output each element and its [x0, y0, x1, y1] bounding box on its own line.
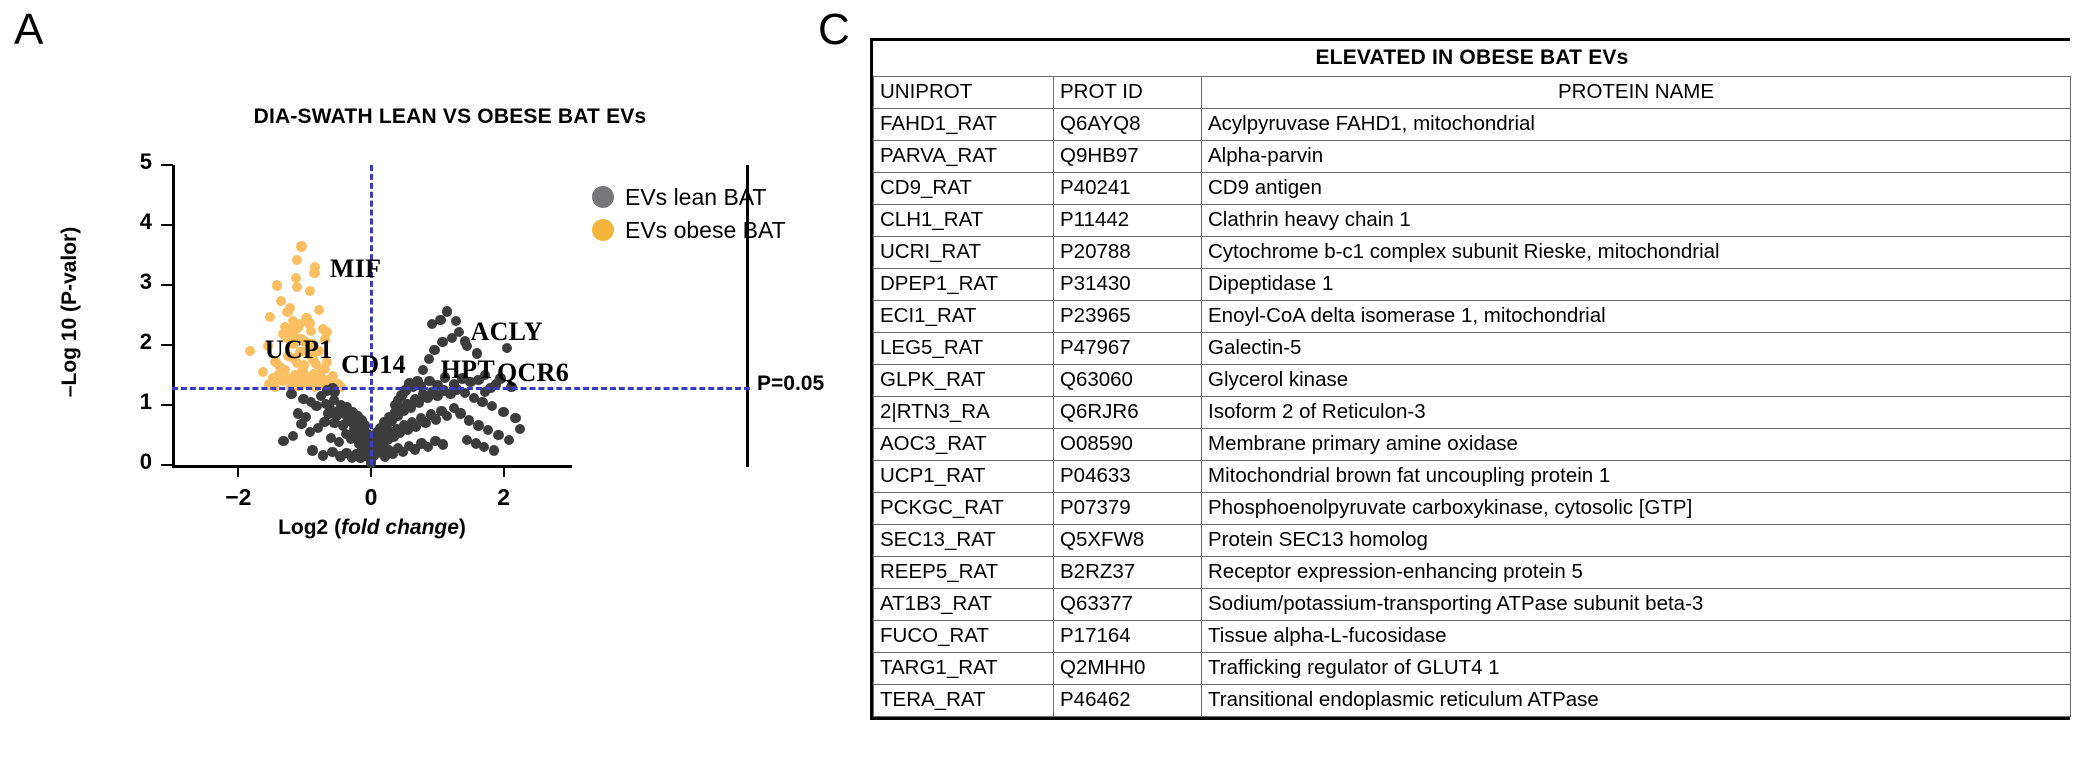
cell-protein-name: CD9 antigen — [1202, 173, 2071, 205]
table-title-row: ELEVATED IN OBESE BAT EVs — [874, 41, 2071, 77]
vertical-threshold-line — [370, 165, 373, 465]
legend-swatch — [592, 219, 614, 241]
scatter-point — [314, 305, 324, 315]
cell-uniprot: ECI1_RAT — [874, 301, 1054, 333]
gene-label-acly: ACLY — [471, 317, 543, 347]
table-row: ECI1_RATP23965Enoyl-CoA delta isomerase … — [874, 301, 2071, 333]
scatter-point — [487, 401, 497, 411]
cell-protein-name: Alpha-parvin — [1202, 141, 2071, 173]
table-row: AT1B3_RATQ63377Sodium/potassium-transpor… — [874, 589, 2071, 621]
scatter-point — [429, 345, 439, 355]
cell-uniprot: TARG1_RAT — [874, 653, 1054, 685]
scatter-point — [305, 286, 315, 296]
cell-prot-id: Q6RJR6 — [1054, 397, 1202, 429]
scatter-point — [447, 333, 457, 343]
cell-protein-name: Galectin-5 — [1202, 333, 2071, 365]
cell-uniprot: LEG5_RAT — [874, 333, 1054, 365]
table-body: ELEVATED IN OBESE BAT EVsUNIPROTPROT IDP… — [874, 41, 2071, 717]
cell-uniprot: UCRI_RAT — [874, 237, 1054, 269]
cell-protein-name: Glycerol kinase — [1202, 365, 2071, 397]
cell-protein-name: Isoform 2 of Reticulon-3 — [1202, 397, 2071, 429]
cell-prot-id: P11442 — [1054, 205, 1202, 237]
x-axis-label-suffix: ) — [459, 516, 466, 539]
scatter-point — [278, 436, 288, 446]
column-header-uniprot: UNIPROT — [874, 77, 1054, 109]
scatter-point — [309, 268, 319, 278]
cell-protein-name: Mitochondrial brown fat uncoupling prote… — [1202, 461, 2071, 493]
cell-uniprot: 2|RTN3_RA — [874, 397, 1054, 429]
cell-prot-id: P20788 — [1054, 237, 1202, 269]
cell-uniprot: PARVA_RAT — [874, 141, 1054, 173]
cell-protein-name: Enoyl-CoA delta isomerase 1, mitochondri… — [1202, 301, 2071, 333]
table-row: AOC3_RATO08590Membrane primary amine oxi… — [874, 429, 2071, 461]
cell-protein-name: Receptor expression-enhancing protein 5 — [1202, 557, 2071, 589]
cell-protein-name: Sodium/potassium-transporting ATPase sub… — [1202, 589, 2071, 621]
table-row: PARVA_RATQ9HB97Alpha-parvin — [874, 141, 2071, 173]
scatter-point — [483, 425, 493, 435]
scatter-point — [424, 354, 434, 364]
scatter-point — [272, 280, 282, 290]
table-title: ELEVATED IN OBESE BAT EVs — [874, 41, 2071, 77]
scatter-point — [498, 407, 508, 417]
gene-label-ucp1: UCP1 — [265, 335, 333, 365]
y-tick-label: 3 — [112, 269, 152, 295]
cell-prot-id: B2RZ37 — [1054, 557, 1202, 589]
chart-legend: EVs lean BATEVs obese BAT — [592, 182, 786, 248]
cell-uniprot: REEP5_RAT — [874, 557, 1054, 589]
significance-threshold-line — [172, 387, 750, 390]
cell-protein-name: Transitional endoplasmic reticulum ATPas… — [1202, 685, 2071, 717]
x-axis-label-italic: fold change — [341, 516, 459, 539]
scatter-point — [510, 413, 520, 423]
cell-prot-id: Q6AYQ8 — [1054, 109, 1202, 141]
table-row: UCP1_RATP04633Mitochondrial brown fat un… — [874, 461, 2071, 493]
cell-protein-name: Cytochrome b-c1 complex subunit Rieske, … — [1202, 237, 2071, 269]
scatter-point — [451, 316, 461, 326]
scatter-point — [327, 447, 337, 457]
x-axis-label-prefix: Log2 ( — [278, 516, 341, 539]
table-row: GLPK_RATQ63060Glycerol kinase — [874, 365, 2071, 397]
cell-prot-id: P04633 — [1054, 461, 1202, 493]
scatter-point — [245, 346, 255, 356]
gene-label-qcr6: QCR6 — [497, 358, 569, 388]
cell-uniprot: GLPK_RAT — [874, 365, 1054, 397]
cell-protein-name: Membrane primary amine oxidase — [1202, 429, 2071, 461]
table-row: FAHD1_RATQ6AYQ8Acylpyruvase FAHD1, mitoc… — [874, 109, 2071, 141]
chart-title: DIA-SWATH LEAN VS OBESE BAT EVs — [170, 105, 730, 129]
y-tick-label: 5 — [112, 149, 152, 175]
legend-label: EVs lean BAT — [625, 184, 766, 211]
cell-uniprot: FUCO_RAT — [874, 621, 1054, 653]
cell-prot-id: P40241 — [1054, 173, 1202, 205]
scatter-point — [258, 367, 268, 377]
table-row: TERA_RATP46462Transitional endoplasmic r… — [874, 685, 2071, 717]
table-row: LEG5_RATP47967Galectin-5 — [874, 333, 2071, 365]
cell-uniprot: CD9_RAT — [874, 173, 1054, 205]
cell-prot-id: Q63377 — [1054, 589, 1202, 621]
cell-prot-id: O08590 — [1054, 429, 1202, 461]
cell-protein-name: Phosphoenolpyruvate carboxykinase, cytos… — [1202, 493, 2071, 525]
y-tick-label: 0 — [112, 449, 152, 475]
table-row: SEC13_RATQ5XFW8Protein SEC13 homolog — [874, 525, 2071, 557]
cell-uniprot: SEC13_RAT — [874, 525, 1054, 557]
table-row: CD9_RATP40241CD9 antigen — [874, 173, 2071, 205]
scatter-point — [297, 366, 307, 376]
legend-swatch — [592, 186, 614, 208]
cell-uniprot: AOC3_RAT — [874, 429, 1054, 461]
table-row: PCKGC_RATP07379Phosphoenolpyruvate carbo… — [874, 493, 2071, 525]
table-row: UCRI_RATP20788Cytochrome b-c1 complex su… — [874, 237, 2071, 269]
cell-uniprot: UCP1_RAT — [874, 461, 1054, 493]
legend-item-1: EVs lean BAT — [592, 182, 786, 212]
x-tick — [503, 466, 505, 477]
cell-protein-name: Trafficking regulator of GLUT4 1 — [1202, 653, 2071, 685]
cell-prot-id: Q2MHH0 — [1054, 653, 1202, 685]
scatter-point — [292, 255, 302, 265]
cell-protein-name: Clathrin heavy chain 1 — [1202, 205, 2071, 237]
y-tick-label: 1 — [112, 389, 152, 415]
cell-prot-id: P46462 — [1054, 685, 1202, 717]
panel-a-volcano-plot: A DIA-SWATH LEAN VS OBESE BAT EVs –Log 1… — [0, 0, 840, 763]
table-border: ELEVATED IN OBESE BAT EVsUNIPROTPROT IDP… — [870, 38, 2070, 720]
scatter-point — [438, 439, 448, 449]
scatter-point — [479, 442, 489, 452]
scatter-point — [489, 445, 499, 455]
x-tick-label: 2 — [474, 484, 534, 511]
scatter-point — [418, 365, 428, 375]
cell-protein-name: Acylpyruvase FAHD1, mitochondrial — [1202, 109, 2071, 141]
cell-uniprot: TERA_RAT — [874, 685, 1054, 717]
panel-c-protein-table: ELEVATED IN OBESE BAT EVsUNIPROTPROT IDP… — [870, 38, 2070, 720]
scatter-point — [504, 435, 514, 445]
scatter-point — [331, 411, 341, 421]
scatter-point — [286, 389, 296, 399]
cell-prot-id: P23965 — [1054, 301, 1202, 333]
table-header-row: UNIPROTPROT IDPROTEIN NAME — [874, 77, 2071, 109]
cell-uniprot: CLH1_RAT — [874, 205, 1054, 237]
cell-prot-id: P31430 — [1054, 269, 1202, 301]
p-value-annotation: P=0.05 — [757, 372, 824, 396]
scatter-point — [353, 419, 363, 429]
gene-label-mif: MIF — [330, 254, 381, 284]
y-axis-label: –Log 10 (P-valor) — [58, 182, 82, 442]
column-header-protein-name: PROTEIN NAME — [1202, 77, 2071, 109]
cell-protein-name: Tissue alpha-L-fucosidase — [1202, 621, 2071, 653]
scatter-point — [437, 337, 447, 347]
scatter-point — [276, 296, 286, 306]
cell-uniprot: PCKGC_RAT — [874, 493, 1054, 525]
cell-prot-id: P47967 — [1054, 333, 1202, 365]
cell-protein-name: Protein SEC13 homolog — [1202, 525, 2071, 557]
scatter-point — [515, 424, 525, 434]
scatter-point — [307, 445, 317, 455]
scatter-point — [296, 241, 306, 251]
panel-a-letter: A — [14, 8, 43, 52]
cell-prot-id: Q63060 — [1054, 365, 1202, 397]
elevated-proteins-table: ELEVATED IN OBESE BAT EVsUNIPROTPROT IDP… — [873, 41, 2071, 717]
scatter-point — [318, 450, 328, 460]
table-row: CLH1_RATP11442Clathrin heavy chain 1 — [874, 205, 2071, 237]
cell-uniprot: DPEP1_RAT — [874, 269, 1054, 301]
scatter-point — [293, 408, 303, 418]
scatter-point — [334, 437, 344, 447]
y-tick-label: 2 — [112, 329, 152, 355]
x-tick — [237, 466, 239, 477]
scatter-point — [493, 430, 503, 440]
y-tick-label: 4 — [112, 209, 152, 235]
cell-protein-name: Dipeptidase 1 — [1202, 269, 2071, 301]
legend-item-2: EVs obese BAT — [592, 215, 786, 245]
table-row: TARG1_RATQ2MHH0Trafficking regulator of … — [874, 653, 2071, 685]
cell-prot-id: P07379 — [1054, 493, 1202, 525]
table-row: 2|RTN3_RAQ6RJR6Isoform 2 of Reticulon-3 — [874, 397, 2071, 429]
column-header-prot-id: PROT ID — [1054, 77, 1202, 109]
table-row: DPEP1_RATP31430Dipeptidase 1 — [874, 269, 2071, 301]
legend-label: EVs obese BAT — [625, 217, 786, 244]
gene-label-hpt: HPT — [441, 355, 495, 385]
cell-prot-id: Q5XFW8 — [1054, 525, 1202, 557]
scatter-point — [288, 431, 298, 441]
scatter-point — [292, 282, 302, 292]
cell-prot-id: P17164 — [1054, 621, 1202, 653]
x-tick-label: −2 — [208, 484, 268, 511]
x-axis-label: Log2 (fold change) — [172, 516, 572, 540]
table-row: FUCO_RATP17164Tissue alpha-L-fucosidase — [874, 621, 2071, 653]
panel-c-letter: C — [818, 8, 850, 52]
scatter-point — [305, 427, 315, 437]
scatter-point — [427, 319, 437, 329]
x-tick-label: 0 — [341, 484, 401, 511]
gene-label-cd14: CD14 — [341, 350, 406, 380]
cell-uniprot: FAHD1_RAT — [874, 109, 1054, 141]
cell-uniprot: AT1B3_RAT — [874, 589, 1054, 621]
table-row: REEP5_RATB2RZ37Receptor expression-enhan… — [874, 557, 2071, 589]
cell-prot-id: Q9HB97 — [1054, 141, 1202, 173]
scatter-point — [265, 312, 275, 322]
